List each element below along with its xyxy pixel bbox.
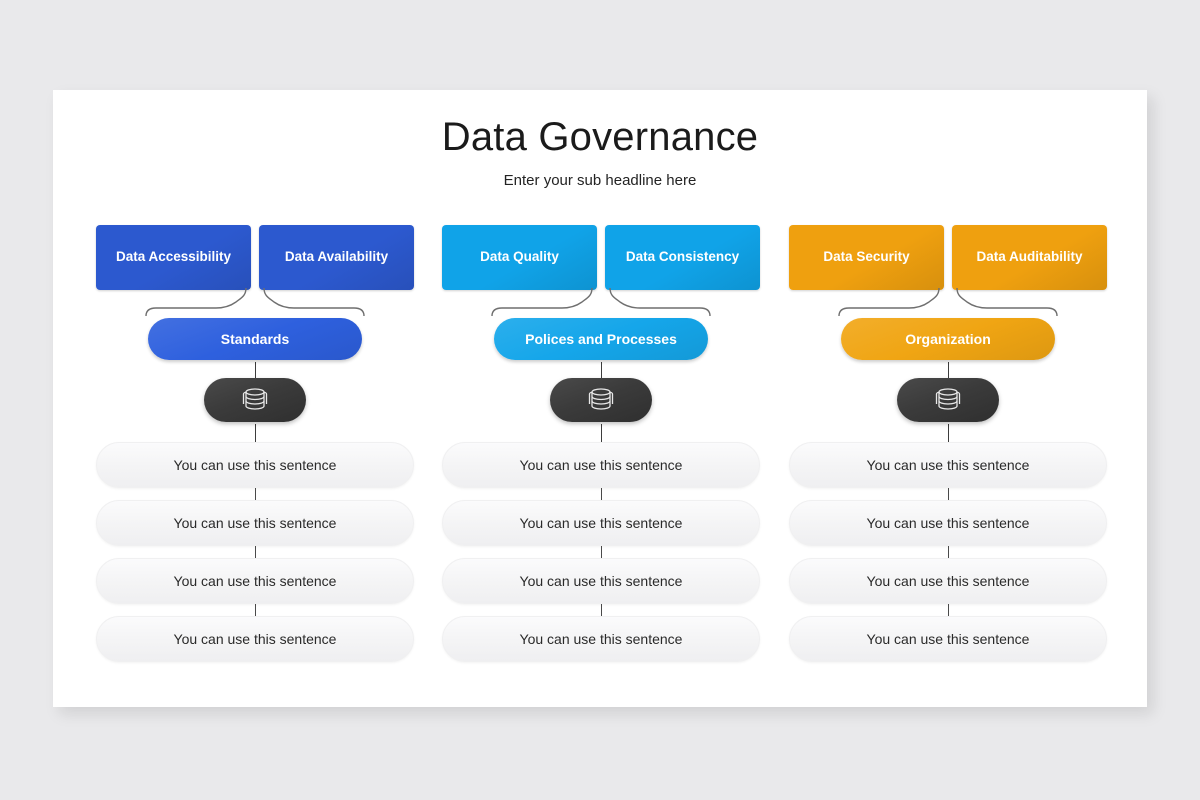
column-polices-and-processes: Data Quality Data Consistency Polices an… bbox=[442, 225, 760, 662]
list-item[interactable]: You can use this sentence bbox=[96, 442, 414, 488]
top-box-data-availability[interactable]: Data Availability bbox=[259, 225, 414, 290]
top-box-label: Data Availability bbox=[285, 249, 388, 266]
top-box-data-security[interactable]: Data Security bbox=[789, 225, 944, 290]
connector-line bbox=[789, 362, 1107, 378]
top-box-label: Data Auditability bbox=[976, 249, 1082, 266]
list-item-label: You can use this sentence bbox=[174, 631, 337, 647]
icon-pill-wrap bbox=[96, 378, 414, 424]
list-item[interactable]: You can use this sentence bbox=[96, 558, 414, 604]
item-connector bbox=[442, 604, 760, 616]
top-box-data-accessibility[interactable]: Data Accessibility bbox=[96, 225, 251, 290]
item-connector bbox=[789, 488, 1107, 500]
sentence-list: You can use this sentence You can use th… bbox=[96, 442, 414, 662]
top-box-row: Data Quality Data Consistency bbox=[442, 225, 760, 290]
category-pill-organization[interactable]: Organization bbox=[841, 318, 1055, 360]
item-connector bbox=[442, 488, 760, 500]
icon-pill[interactable] bbox=[204, 378, 306, 422]
category-pill-wrap: Polices and Processes bbox=[442, 318, 760, 362]
list-item-label: You can use this sentence bbox=[867, 515, 1030, 531]
list-item[interactable]: You can use this sentence bbox=[96, 500, 414, 546]
brace-connector bbox=[789, 290, 1107, 318]
top-box-row: Data Security Data Auditability bbox=[789, 225, 1107, 290]
list-item-label: You can use this sentence bbox=[867, 457, 1030, 473]
item-connector bbox=[96, 488, 414, 500]
column-organization: Data Security Data Auditability Organiza… bbox=[789, 225, 1107, 662]
list-item-label: You can use this sentence bbox=[174, 573, 337, 589]
list-item-label: You can use this sentence bbox=[520, 631, 683, 647]
list-item-label: You can use this sentence bbox=[867, 573, 1030, 589]
top-box-label: Data Security bbox=[823, 249, 909, 266]
top-box-label: Data Quality bbox=[480, 249, 559, 266]
connector-line bbox=[442, 362, 760, 378]
category-pill-wrap: Organization bbox=[789, 318, 1107, 362]
top-box-data-consistency[interactable]: Data Consistency bbox=[605, 225, 760, 290]
list-item[interactable]: You can use this sentence bbox=[442, 616, 760, 662]
list-item-label: You can use this sentence bbox=[520, 515, 683, 531]
category-label: Standards bbox=[221, 331, 289, 347]
category-pill-standards[interactable]: Standards bbox=[148, 318, 362, 360]
list-item-label: You can use this sentence bbox=[174, 515, 337, 531]
list-item[interactable]: You can use this sentence bbox=[789, 558, 1107, 604]
database-icon bbox=[586, 385, 616, 415]
item-connector bbox=[96, 546, 414, 558]
database-icon bbox=[240, 385, 270, 415]
list-item-label: You can use this sentence bbox=[174, 457, 337, 473]
item-connector bbox=[789, 546, 1107, 558]
connector-line bbox=[96, 424, 414, 442]
item-connector bbox=[789, 604, 1107, 616]
connector-line bbox=[96, 362, 414, 378]
item-connector bbox=[96, 604, 414, 616]
icon-pill[interactable] bbox=[550, 378, 652, 422]
list-item[interactable]: You can use this sentence bbox=[789, 616, 1107, 662]
sentence-list: You can use this sentence You can use th… bbox=[442, 442, 760, 662]
icon-pill-wrap bbox=[442, 378, 760, 424]
top-box-label: Data Accessibility bbox=[116, 249, 231, 266]
list-item[interactable]: You can use this sentence bbox=[789, 442, 1107, 488]
category-label: Organization bbox=[905, 331, 991, 347]
top-box-data-quality[interactable]: Data Quality bbox=[442, 225, 597, 290]
icon-pill-wrap bbox=[789, 378, 1107, 424]
top-box-label: Data Consistency bbox=[626, 249, 739, 266]
slide-canvas: Data Governance Enter your sub headline … bbox=[53, 90, 1147, 707]
connector-line bbox=[789, 424, 1107, 442]
column-standards: Data Accessibility Data Availability Sta… bbox=[96, 225, 414, 662]
list-item[interactable]: You can use this sentence bbox=[96, 616, 414, 662]
brace-connector bbox=[442, 290, 760, 318]
category-pill-wrap: Standards bbox=[96, 318, 414, 362]
database-icon bbox=[933, 385, 963, 415]
list-item[interactable]: You can use this sentence bbox=[442, 442, 760, 488]
icon-pill[interactable] bbox=[897, 378, 999, 422]
item-connector bbox=[442, 546, 760, 558]
brace-connector bbox=[96, 290, 414, 318]
connector-line bbox=[442, 424, 760, 442]
list-item[interactable]: You can use this sentence bbox=[789, 500, 1107, 546]
category-label: Polices and Processes bbox=[525, 331, 677, 347]
list-item[interactable]: You can use this sentence bbox=[442, 500, 760, 546]
category-pill-polices-and-processes[interactable]: Polices and Processes bbox=[494, 318, 708, 360]
list-item-label: You can use this sentence bbox=[520, 457, 683, 473]
top-box-row: Data Accessibility Data Availability bbox=[96, 225, 414, 290]
list-item[interactable]: You can use this sentence bbox=[442, 558, 760, 604]
top-box-data-auditability[interactable]: Data Auditability bbox=[952, 225, 1107, 290]
diagram-columns: Data Accessibility Data Availability Sta… bbox=[53, 90, 1147, 707]
list-item-label: You can use this sentence bbox=[867, 631, 1030, 647]
sentence-list: You can use this sentence You can use th… bbox=[789, 442, 1107, 662]
list-item-label: You can use this sentence bbox=[520, 573, 683, 589]
